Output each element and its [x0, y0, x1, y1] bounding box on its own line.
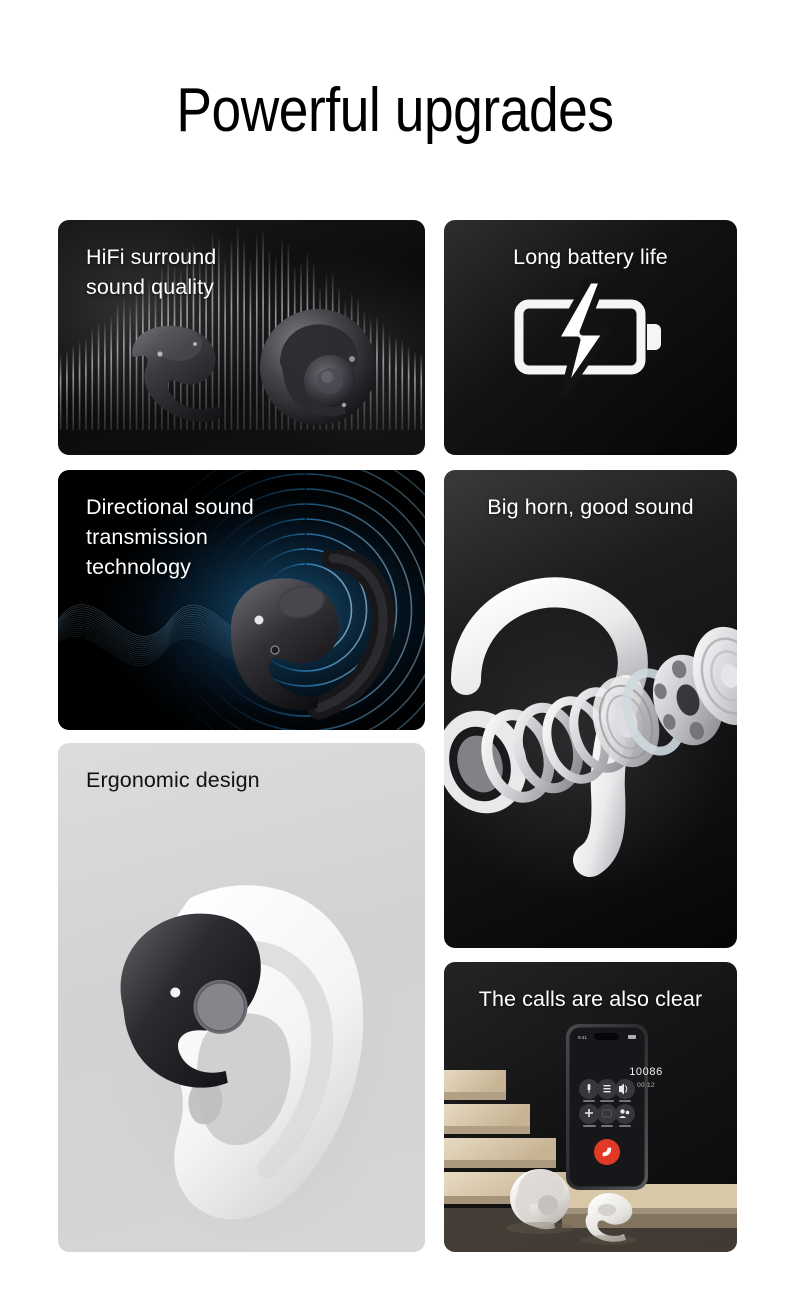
feature-card-battery[interactable]: Long battery life: [444, 220, 737, 455]
svg-text:9:41: 9:41: [578, 1035, 587, 1040]
battery-charging-icon: [511, 278, 671, 398]
card-title-hifi: HiFi surround sound quality: [86, 242, 216, 302]
feature-card-grid: HiFi surround sound quality Long battery…: [58, 220, 737, 1252]
feature-card-hifi[interactable]: HiFi surround sound quality: [58, 220, 425, 455]
feature-card-horn[interactable]: Big horn, good sound: [444, 470, 737, 948]
page-title: Powerful upgrades: [55, 72, 734, 150]
exploded-driver-graphic: [444, 560, 737, 900]
feature-card-ergonomic[interactable]: Ergonomic design: [58, 743, 425, 1252]
feature-card-directional[interactable]: Directional sound transmission technolog…: [58, 470, 425, 730]
card-title-battery: Long battery life: [444, 242, 737, 272]
ear-with-earbud-graphic: [78, 838, 418, 1238]
product-feature-page: Powerful upgrades: [0, 0, 790, 1305]
card-title-directional: Directional sound transmission technolog…: [86, 492, 254, 582]
phone-call-timer: 00:12: [602, 1082, 690, 1089]
card-title-calls: The calls are also clear: [444, 984, 737, 1014]
earbud-right-graphic: [256, 305, 381, 430]
card-title-ergonomic: Ergonomic design: [86, 765, 260, 795]
earbud-left-graphic: [116, 320, 234, 425]
feature-card-calls[interactable]: 9:41: [444, 962, 737, 1252]
phone-call-number: 10086: [602, 1066, 690, 1078]
card-title-horn: Big horn, good sound: [444, 492, 737, 522]
